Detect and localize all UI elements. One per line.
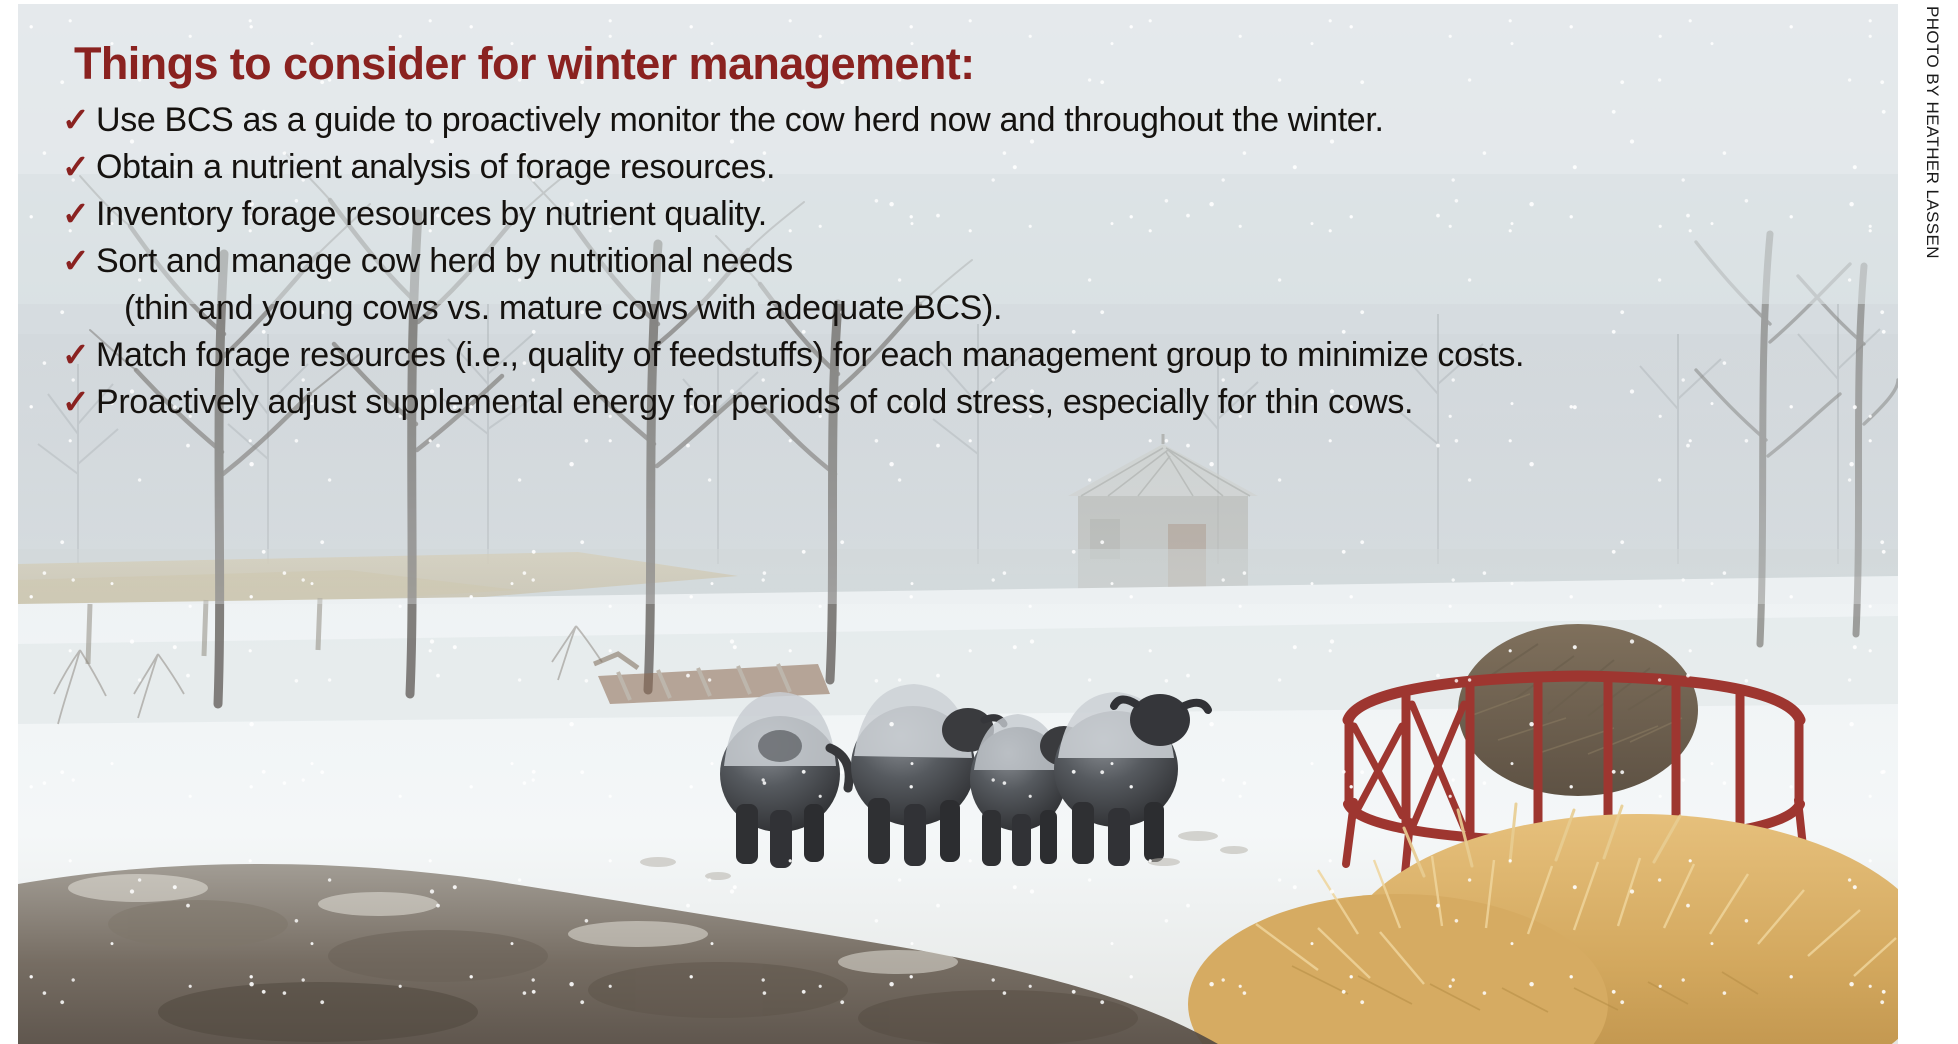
list-item-continuation: (thin and young cows vs. mature cows wit… [62, 285, 1898, 332]
list-item-label: (thin and young cows vs. mature cows wit… [96, 285, 1002, 332]
list-item: ✓ Match forage resources (i.e., quality … [62, 332, 1898, 379]
list-item-label: Match forage resources (i.e., quality of… [96, 332, 1524, 379]
winter-pasture-photo: Things to consider for winter management… [18, 4, 1898, 1044]
check-icon: ✓ [62, 332, 96, 378]
photo-credit-text: PHOTO BY HEATHER LASSEN [1922, 6, 1942, 259]
list-item-label: Sort and manage cow herd by nutritional … [96, 238, 793, 285]
check-icon: ✓ [62, 144, 96, 190]
check-icon: ✓ [62, 238, 96, 284]
list-item-label: Inventory forage resources by nutrient q… [96, 191, 767, 238]
list-item: ✓ Obtain a nutrient analysis of forage r… [62, 144, 1898, 191]
list-item: ✓ Sort and manage cow herd by nutritiona… [62, 238, 1898, 285]
check-icon: ✓ [62, 191, 96, 237]
check-icon: ✓ [62, 97, 96, 143]
page-title: Things to consider for winter management… [74, 40, 1898, 87]
check-icon: ✓ [62, 379, 96, 425]
list-item: ✓ Inventory forage resources by nutrient… [62, 191, 1898, 238]
list-item-label: Use BCS as a guide to proactively monito… [96, 97, 1384, 144]
list-item-label: Obtain a nutrient analysis of forage res… [96, 144, 775, 191]
text-overlay: Things to consider for winter management… [18, 4, 1898, 426]
checklist: ✓ Use BCS as a guide to proactively moni… [62, 97, 1898, 425]
winter-management-figure: Things to consider for winter management… [0, 0, 1958, 1044]
list-item: ✓ Proactively adjust supplemental energy… [62, 379, 1898, 426]
photo-credit: PHOTO BY HEATHER LASSEN [1898, 0, 1958, 270]
list-item: ✓ Use BCS as a guide to proactively moni… [62, 97, 1898, 144]
list-item-label: Proactively adjust supplemental energy f… [96, 379, 1413, 426]
